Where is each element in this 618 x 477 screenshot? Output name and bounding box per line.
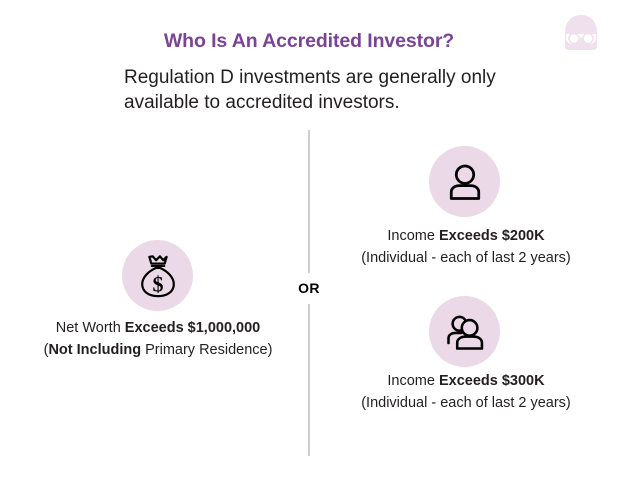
income-200k-line-2: (Individual - each of last 2 years) bbox=[330, 247, 602, 269]
income-300k-caption: Income Exceeds $300K (Individual - each … bbox=[330, 370, 602, 414]
person-icon-circle bbox=[429, 146, 500, 217]
subtitle-line-1: Regulation D investments are generally bbox=[124, 67, 456, 88]
divider-line-bottom bbox=[308, 304, 310, 456]
or-label: OR bbox=[283, 280, 335, 296]
group-icon-circle bbox=[429, 296, 500, 367]
income-300k-line-2: (Individual - each of last 2 years) bbox=[330, 392, 602, 414]
net-worth-line-1: Net Worth Exceeds $1,000,000 bbox=[9, 317, 307, 339]
infographic-slide: Who Is An Accredited Investor? Regulatio… bbox=[0, 0, 618, 477]
page-title: Who Is An Accredited Investor? bbox=[0, 30, 618, 53]
svg-text:$: $ bbox=[152, 271, 163, 296]
income-200k-line-1: Income Exceeds $200K bbox=[330, 225, 602, 247]
net-worth-line-2: (Not Including Primary Residence) bbox=[9, 339, 307, 361]
money-bag-icon: $ bbox=[135, 252, 181, 300]
page-subtitle: Regulation D investments are generally o… bbox=[124, 65, 524, 115]
income-300k-line-1: Income Exceeds $300K bbox=[330, 370, 602, 392]
person-icon bbox=[443, 160, 487, 204]
group-icon bbox=[443, 310, 487, 354]
divider-line-top bbox=[308, 130, 310, 273]
income-200k-caption: Income Exceeds $200K (Individual - each … bbox=[330, 225, 602, 269]
net-worth-caption: Net Worth Exceeds $1,000,000 (Not Includ… bbox=[9, 317, 307, 361]
money-bag-icon-circle: $ bbox=[122, 240, 193, 311]
